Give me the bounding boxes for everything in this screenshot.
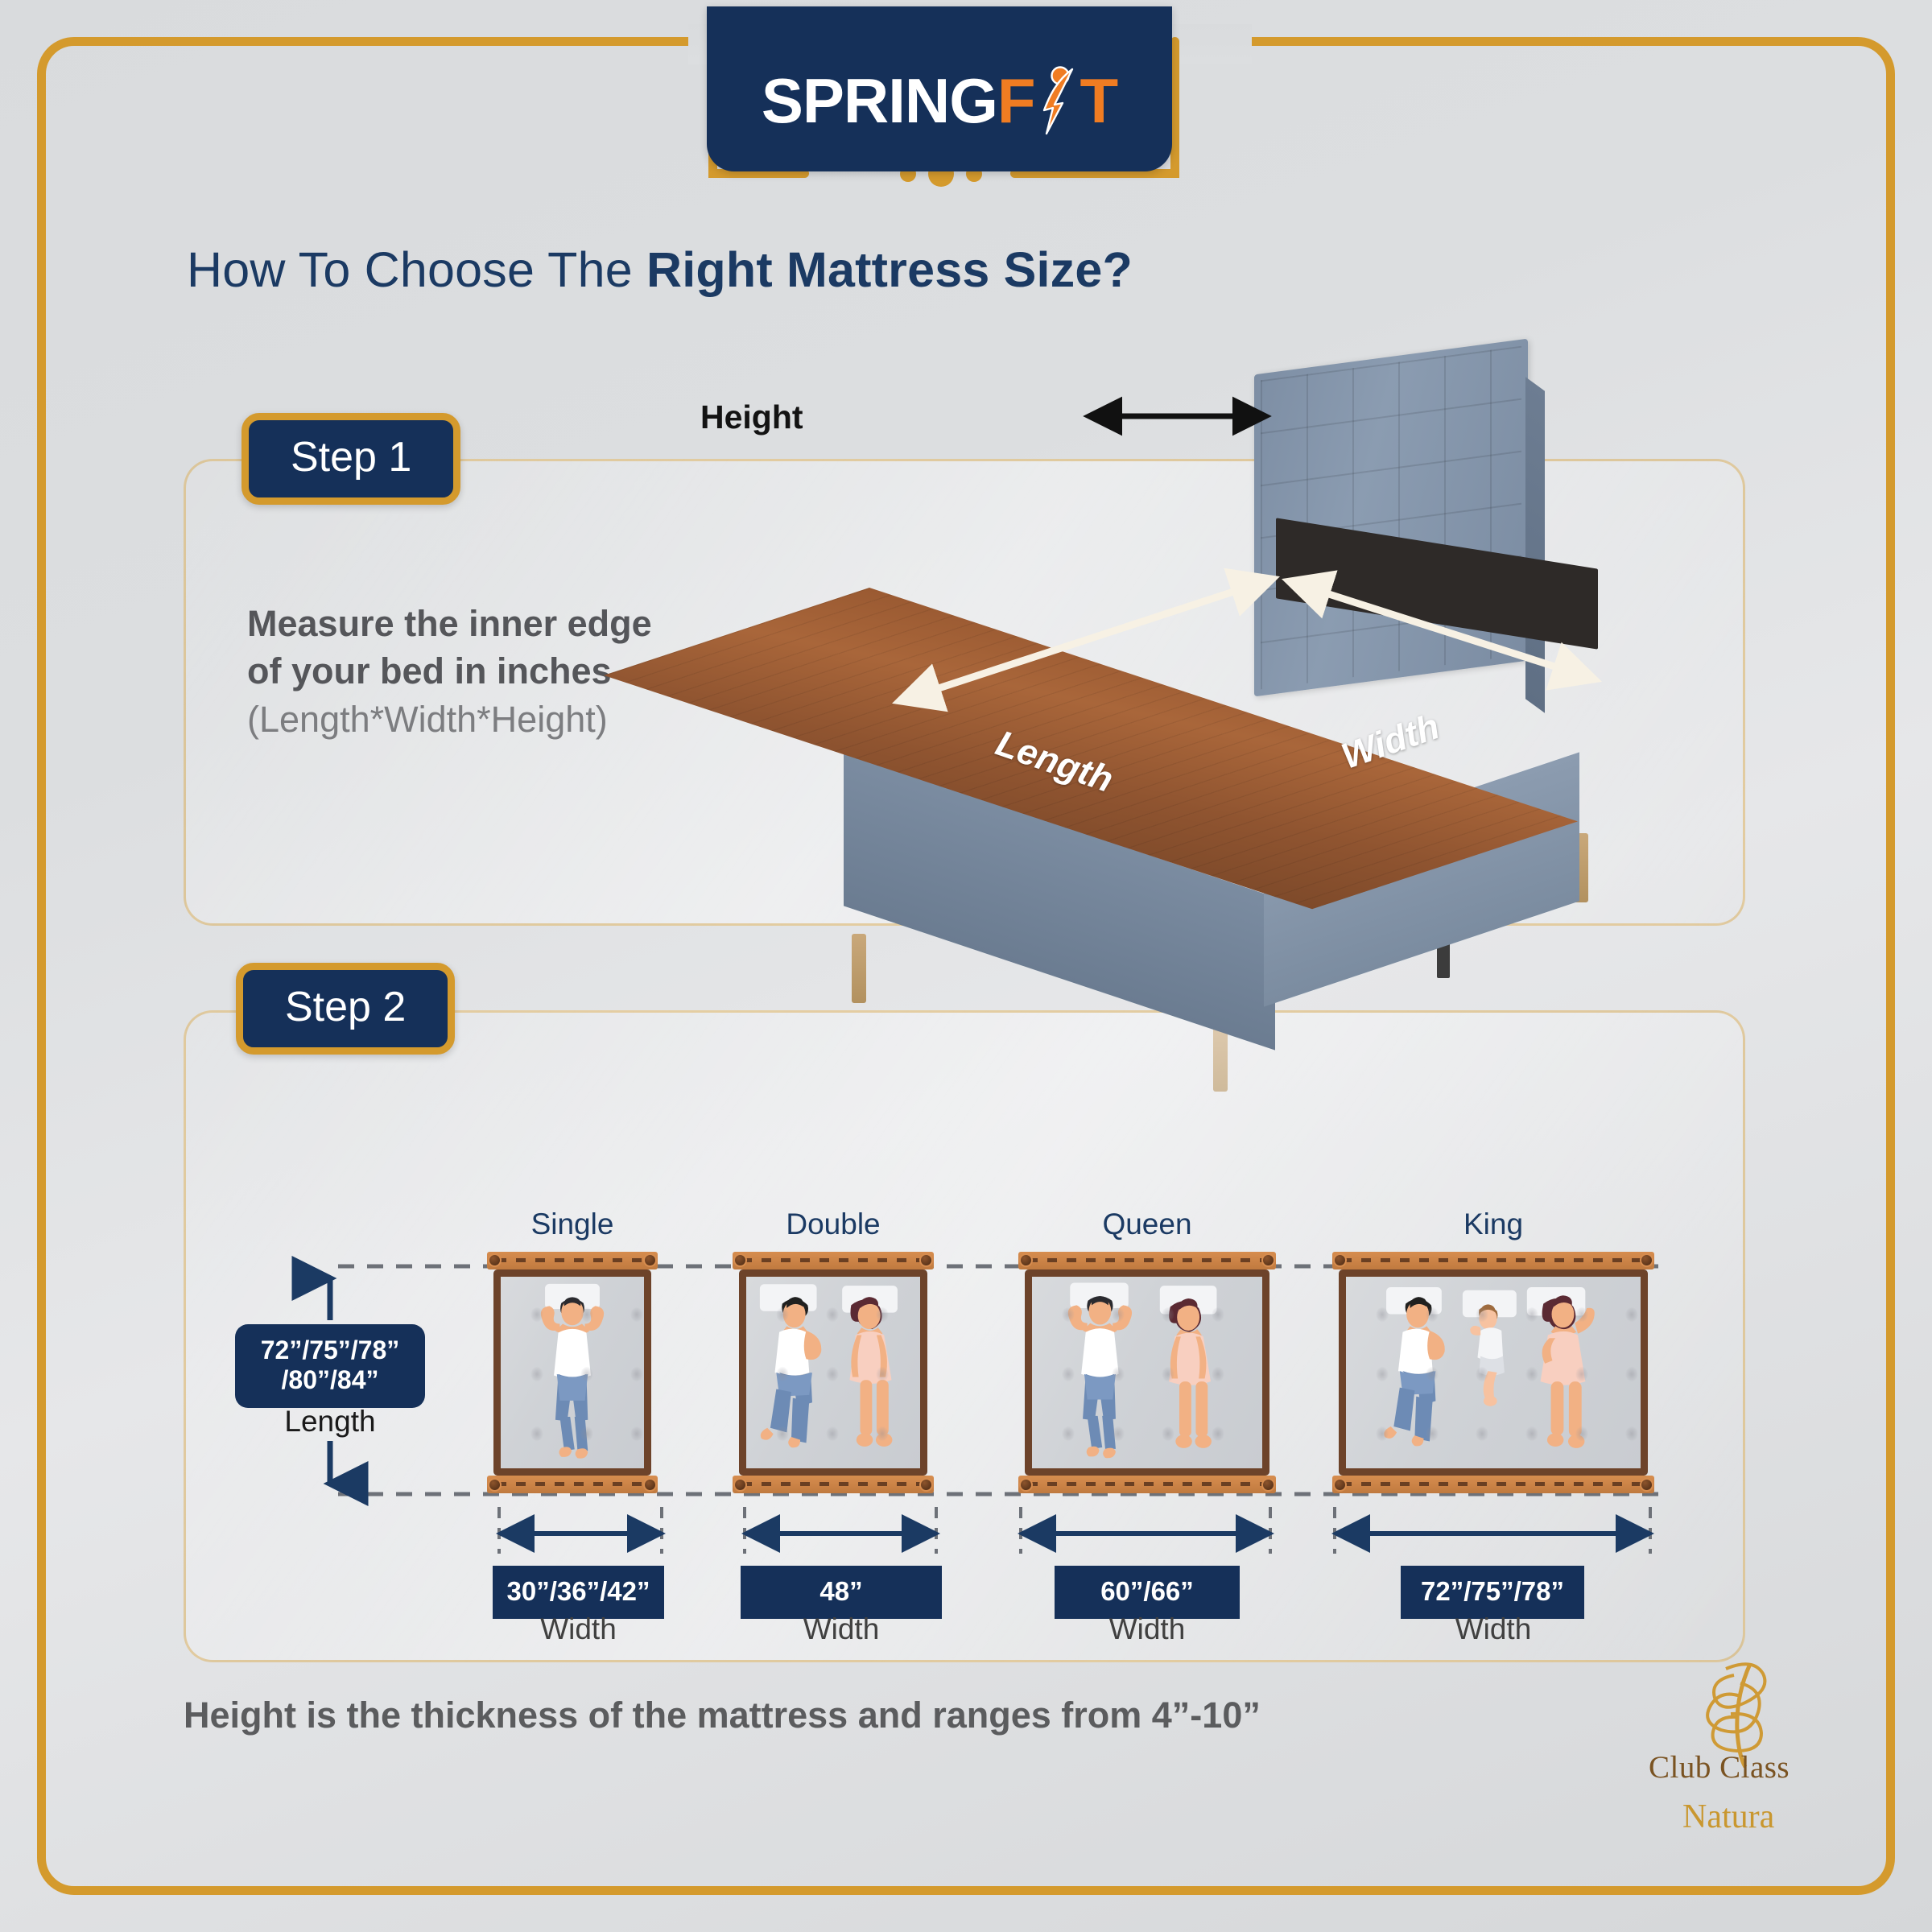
width-badge-king: 72”/75”/78”: [1401, 1566, 1584, 1619]
step-2-badge: Step 2: [236, 963, 455, 1055]
mattress-knob: [1640, 1478, 1653, 1492]
sleepers-couple-queen: [1032, 1277, 1262, 1468]
mattress-surface-queen: [1025, 1269, 1269, 1476]
springfit-logo-tab: SPRINGF T: [707, 6, 1172, 171]
mattress-single: [487, 1252, 658, 1493]
width-label-double: Width: [741, 1612, 942, 1646]
mattress-surface-king: [1339, 1269, 1648, 1476]
mattress-knob: [919, 1253, 933, 1267]
width-label-queen: Width: [1022, 1612, 1272, 1646]
page-title-bold: Right Mattress Size?: [646, 242, 1133, 297]
sleepers-couple-double: [746, 1277, 920, 1468]
step-1-badge: Step 1: [242, 413, 460, 505]
width-label-king: Width: [1368, 1612, 1618, 1646]
mattress-rail-bottom: [1332, 1476, 1654, 1493]
sleeper-man-single: [501, 1277, 644, 1468]
springfit-logo: SPRINGF T: [762, 66, 1117, 135]
step-1-line-1: Measure the inner edge: [247, 600, 652, 647]
mattress-knob: [643, 1253, 657, 1267]
mattress-surface-double: [739, 1269, 927, 1476]
mattress-size-row: Single: [237, 1207, 1678, 1610]
bed-headboard-side: [1525, 377, 1545, 712]
mattress-knob: [919, 1478, 933, 1492]
width-badge-single: 30”/36”/42”: [493, 1566, 664, 1619]
mattress-king: [1332, 1252, 1654, 1493]
runner-icon: [1035, 66, 1080, 135]
footer-note: Height is the thickness of the mattress …: [184, 1695, 1261, 1736]
natura-text: Natura: [1682, 1798, 1774, 1836]
width-label-single: Width: [493, 1612, 664, 1646]
mattress-knob: [1333, 1253, 1347, 1267]
mattress-double: [733, 1252, 934, 1493]
width-badge-double: 48”: [741, 1566, 942, 1619]
club-class-natura-logo: Club Class Natura: [1649, 1678, 1842, 1839]
step-1-instruction: Measure the inner edge of your bed in in…: [247, 600, 652, 743]
sleepers-family-king: [1346, 1277, 1641, 1468]
mattress-rail-bottom: [733, 1476, 934, 1493]
step-1-line-3: (Length*Width*Height): [247, 696, 652, 743]
mattress-knob: [1333, 1478, 1347, 1492]
mattress-knob: [1019, 1478, 1033, 1492]
mattress-knob: [1019, 1253, 1033, 1267]
mattress-title-queen: Queen: [1018, 1207, 1276, 1241]
mattress-title-single: Single: [487, 1207, 658, 1241]
mattress-knob: [1640, 1253, 1653, 1267]
mattress-rail-top: [733, 1252, 934, 1269]
mattress-title-king: King: [1332, 1207, 1654, 1241]
bed-leg-front-left: [852, 934, 866, 1003]
page-title: How To Choose The Right Mattress Size?: [187, 242, 1133, 298]
step-1-line-2: of your bed in inches: [247, 647, 652, 695]
mattress-knob: [1261, 1253, 1275, 1267]
mattress-rail-top: [487, 1252, 658, 1269]
mattress-knob: [488, 1253, 502, 1267]
mattress-title-double: Double: [733, 1207, 934, 1241]
mattress-rail-top: [1018, 1252, 1276, 1269]
mattress-knob: [643, 1478, 657, 1492]
bed-illustration: Height Length Width: [813, 342, 1690, 938]
mattress-knob: [733, 1253, 747, 1267]
mattress-rail-bottom: [1018, 1476, 1276, 1493]
mattress-knob: [733, 1478, 747, 1492]
page-title-regular: How To Choose The: [187, 242, 646, 297]
mattress-rail-bottom: [487, 1476, 658, 1493]
logo-text-f: F: [997, 69, 1035, 132]
club-class-text: Club Class: [1649, 1749, 1842, 1785]
bed-headboard: [1254, 339, 1528, 697]
logo-text-t: T: [1080, 69, 1118, 132]
mattress-queen: [1018, 1252, 1276, 1493]
mattress-knob: [488, 1478, 502, 1492]
bed-label-height: Height: [700, 398, 803, 436]
width-badge-queen: 60”/66”: [1055, 1566, 1240, 1619]
logo-text-spring: SPRING: [762, 69, 997, 132]
mattress-rail-top: [1332, 1252, 1654, 1269]
mattress-surface-single: [493, 1269, 651, 1476]
mattress-knob: [1261, 1478, 1275, 1492]
